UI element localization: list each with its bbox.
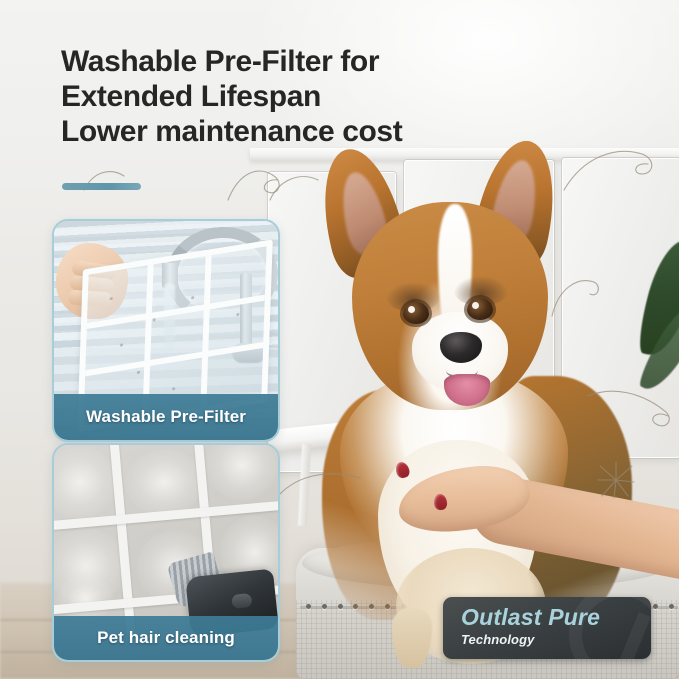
feature-card-washable-pre-filter[interactable]: Washable Pre-Filter [52, 219, 280, 442]
dog-eye-right [467, 298, 493, 320]
card-caption: Washable Pre-Filter [54, 394, 278, 440]
dog-eye-left [403, 302, 429, 324]
badge-subtitle: Technology [461, 631, 651, 648]
brush-button [231, 593, 252, 609]
floating-hair-strand [82, 164, 126, 196]
accent-rule [62, 183, 141, 190]
page-title: Washable Pre-Filter for Extended Lifespa… [61, 44, 521, 149]
feature-card-pet-hair-cleaning[interactable]: Pet hair cleaning [52, 443, 280, 662]
product-infographic: Washable Pre-Filter for Extended Lifespa… [0, 0, 679, 679]
badge-title: Outlast Pure [461, 603, 651, 631]
outlast-pure-technology-badge: Outlast Pure Technology [443, 597, 651, 659]
card-caption: Pet hair cleaning [54, 616, 278, 660]
